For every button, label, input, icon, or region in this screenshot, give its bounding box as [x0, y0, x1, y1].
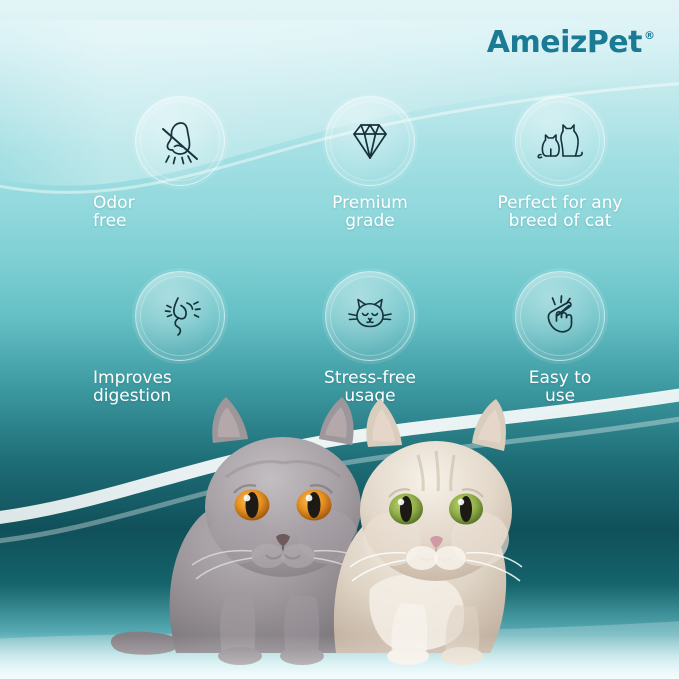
feature-bubble [325, 96, 415, 186]
feature-row-1: Odor free Premium grade [0, 96, 679, 230]
two-cats-icon [533, 115, 587, 167]
feature-label: Premium grade [332, 195, 408, 230]
product-feature-poster: AmeizPet ® [0, 0, 679, 679]
brand-logo: AmeizPet ® [487, 28, 655, 58]
feature-bubble [135, 96, 225, 186]
feature-bubble [325, 271, 415, 361]
ground-fade [0, 635, 679, 679]
feature-bubble [515, 96, 605, 186]
happy-cat-face-icon [343, 290, 397, 342]
feature-any-breed: Perfect for any breed of cat [465, 96, 655, 230]
tapping-hand-icon [534, 290, 586, 342]
cats-photo [0, 359, 679, 679]
two-cats-photo-illustration [0, 359, 679, 679]
cream-longhair-cat [334, 399, 522, 653]
diamond-icon [344, 115, 396, 167]
feature-bubble [135, 271, 225, 361]
registered-trademark-icon: ® [644, 29, 655, 42]
feature-odor-free: Odor free [85, 96, 275, 230]
brand-name: AmeizPet [487, 28, 642, 58]
nose-no-smell-icon [154, 115, 206, 167]
feature-label: Perfect for any breed of cat [498, 195, 623, 230]
stomach-digestion-icon [154, 290, 206, 342]
feature-label: Odor free [93, 195, 135, 230]
feature-bubble [515, 271, 605, 361]
feature-premium-grade: Premium grade [275, 96, 465, 230]
